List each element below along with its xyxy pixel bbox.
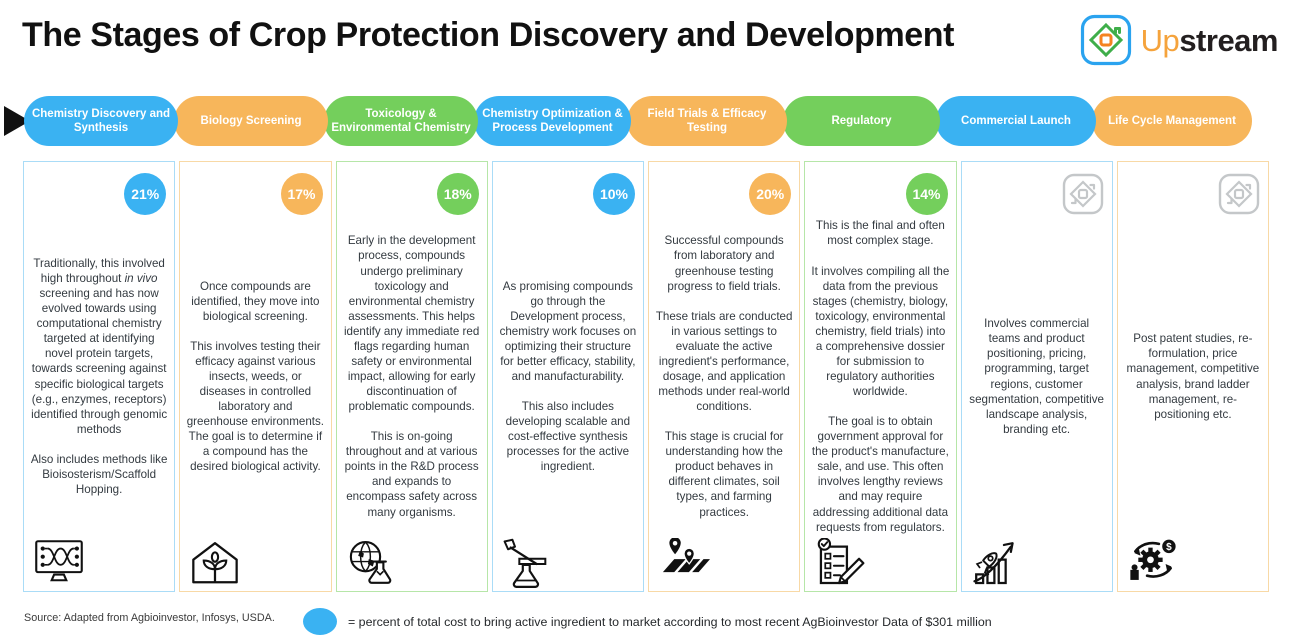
regulatory-checklist-pen-icon (814, 538, 866, 584)
brand-logo: Upstream (1080, 14, 1278, 66)
stage-pill-label: Biology Screening (201, 114, 302, 128)
field-trial-map-pins-icon (658, 538, 710, 579)
upstream-logo-gray-icon (1218, 173, 1260, 215)
upstream-logo-gray-icon (1062, 173, 1104, 215)
card-body: As promising compounds go through the De… (493, 162, 643, 591)
cost-percent-badge: 21% (124, 173, 166, 215)
rocket-growth-chart-icon (971, 538, 1023, 584)
card-body: This is the final and often most complex… (805, 162, 955, 591)
stage-pill-label: Regulatory (831, 114, 891, 128)
card-description-segment: This is the final and often most complex… (811, 219, 949, 533)
dna-computer-screening-icon (33, 538, 85, 584)
upstream-logo-gray-icon (1218, 173, 1260, 215)
card-description: As promising compounds go through the De… (499, 279, 637, 475)
cost-percent-badge: 17% (281, 173, 323, 215)
card-body: Successful compounds from laboratory and… (649, 162, 799, 591)
stage-card-5[interactable]: 20%Successful compounds from laboratory … (648, 161, 800, 592)
stage-pill-label: Chemistry Discovery and Synthesis (31, 107, 171, 136)
stage-card-7[interactable]: Involves commercial teams and product po… (961, 161, 1113, 592)
stage-pill-4[interactable]: Chemistry Optimization & Process Develop… (474, 96, 631, 146)
cost-percent-badge: 14% (906, 173, 948, 215)
stage-card-row: 21%Traditionally, this involved high thr… (23, 161, 1269, 592)
cost-percent-badge: 20% (749, 173, 791, 215)
greenhouse-plant-icon (189, 538, 241, 587)
globe-flask-environment-icon (346, 538, 398, 584)
stage-pill-row: Chemistry Discovery and SynthesisBiology… (24, 96, 1284, 146)
svg-text:$: $ (1166, 542, 1172, 553)
cost-percent-badge: 10% (593, 173, 635, 215)
card-body: Post patent studies, re-formulation, pri… (1118, 162, 1268, 591)
stage-card-4[interactable]: 10%As promising compounds go through the… (492, 161, 644, 592)
card-body: Once compounds are identified, they move… (180, 162, 330, 591)
rocket-growth-chart-icon (971, 538, 1023, 587)
stage-card-8[interactable]: Post patent studies, re-formulation, pri… (1117, 161, 1269, 592)
stage-pill-5[interactable]: Field Trials & Efficacy Testing (627, 96, 787, 146)
regulatory-checklist-pen-icon (814, 538, 866, 587)
card-body: Involves commercial teams and product po… (962, 162, 1112, 591)
stage-pill-label: Commercial Launch (961, 114, 1071, 128)
greenhouse-plant-icon (189, 538, 241, 584)
card-description: Early in the development process, compou… (343, 233, 481, 519)
stage-pill-label: Chemistry Optimization & Process Develop… (481, 107, 624, 136)
card-description-segment: screening and has now evolved towards us… (31, 287, 168, 496)
gear-dollar-lifecycle-icon: $ (1127, 538, 1179, 583)
globe-flask-environment-icon (346, 538, 398, 584)
pipette-flask-icon (502, 538, 554, 588)
page-title: The Stages of Crop Protection Discovery … (22, 16, 954, 55)
gear-dollar-lifecycle-icon: $ (1127, 538, 1179, 584)
brand-name-stream: stream (1179, 23, 1278, 58)
stage-card-1[interactable]: 21%Traditionally, this involved high thr… (23, 161, 175, 592)
card-description: Involves commercial teams and product po… (968, 316, 1106, 437)
stage-card-3[interactable]: 18%Early in the development process, com… (336, 161, 488, 592)
stage-pill-label: Toxicology & Environmental Chemistry (331, 107, 471, 136)
card-description: Traditionally, this involved high throug… (30, 256, 168, 497)
dna-computer-screening-icon (33, 538, 85, 584)
card-description: This is the final and often most complex… (811, 218, 949, 534)
source-note: Source: Adapted from Agbioinvestor, Info… (24, 612, 275, 624)
stage-pill-8[interactable]: Life Cycle Management (1092, 96, 1252, 146)
stage-pill-6[interactable]: Regulatory (783, 96, 940, 146)
card-description-segment: As promising compounds go through the De… (500, 280, 637, 474)
field-trial-map-pins-icon (658, 538, 710, 584)
stage-pill-7[interactable]: Commercial Launch (936, 96, 1096, 146)
stage-pill-2[interactable]: Biology Screening (174, 96, 328, 146)
card-description: Successful compounds from laboratory and… (655, 233, 793, 519)
card-description-segment: Early in the development process, compou… (344, 234, 479, 518)
stage-pill-label: Life Cycle Management (1108, 114, 1236, 128)
stage-pill-1[interactable]: Chemistry Discovery and Synthesis (24, 96, 178, 146)
card-description-italic: in vivo (125, 272, 158, 285)
card-description-segment: Post patent studies, re-formulation, pri… (1126, 332, 1259, 420)
card-body: Early in the development process, compou… (337, 162, 487, 591)
card-body: Traditionally, this involved high throug… (24, 162, 174, 591)
card-description-segment: Once compounds are identified, they move… (187, 280, 324, 474)
stage-card-2[interactable]: 17%Once compounds are identified, they m… (179, 161, 331, 592)
header: The Stages of Crop Protection Discovery … (0, 0, 1292, 84)
card-description: Once compounds are identified, they move… (186, 279, 324, 475)
legend-dot-icon (303, 608, 337, 635)
card-description: Post patent studies, re-formulation, pri… (1124, 331, 1262, 421)
stage-pill-label: Field Trials & Efficacy Testing (634, 107, 780, 136)
stage-pill-3[interactable]: Toxicology & Environmental Chemistry (324, 96, 478, 146)
upstream-logo-gray-icon (1062, 173, 1104, 215)
cost-percent-badge: 18% (437, 173, 479, 215)
legend-text: = percent of total cost to bring active … (348, 615, 992, 629)
card-description-segment: Involves commercial teams and product po… (969, 317, 1104, 435)
infographic-page: The Stages of Crop Protection Discovery … (0, 0, 1292, 642)
brand-name: Upstream (1141, 25, 1278, 56)
stage-card-6[interactable]: 14%This is the final and often most comp… (804, 161, 956, 592)
upstream-cycle-logo-icon (1080, 14, 1132, 66)
card-description-segment: Successful compounds from laboratory and… (656, 234, 793, 518)
brand-name-up: Up (1141, 23, 1180, 58)
pipette-flask-icon (502, 538, 554, 584)
